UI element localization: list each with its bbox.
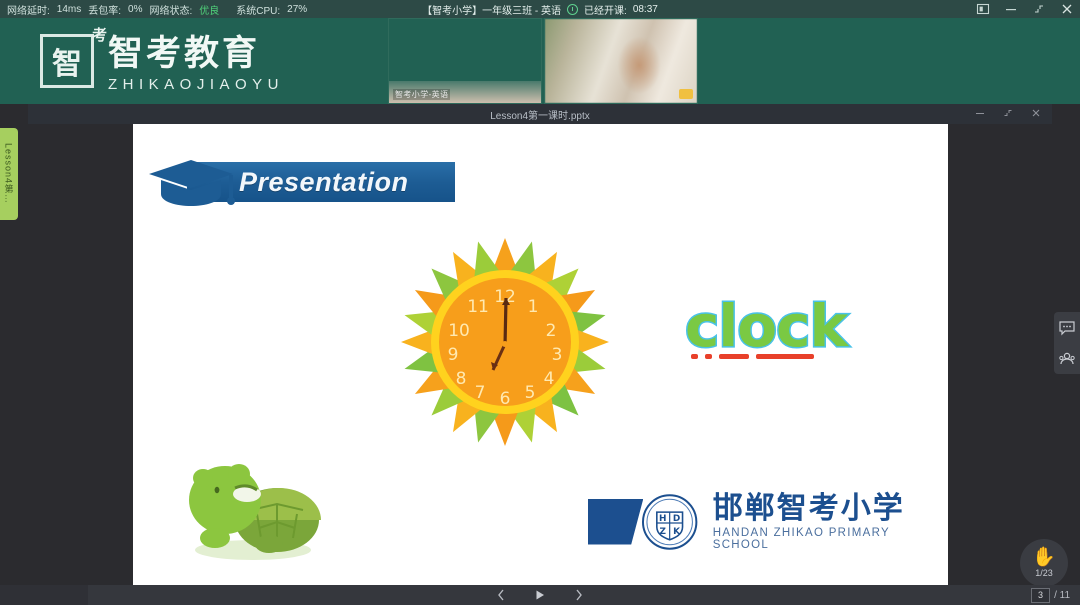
vocab-word-text: clock — [685, 292, 885, 360]
svg-text:8: 8 — [456, 369, 467, 389]
ppt-close-icon[interactable] — [1030, 107, 1044, 121]
stopwatch-icon — [567, 4, 578, 15]
svg-text:4: 4 — [544, 369, 555, 389]
bottom-toolbar: 3 / 11 — [0, 585, 1080, 605]
presentation-banner: Presentation — [143, 150, 455, 212]
video-tile-teacher[interactable]: 智考小学-英语 — [388, 18, 542, 104]
school-logo-bar — [588, 499, 643, 545]
sunflower-clock-image: 12 1 2 3 4 5 6 7 8 9 10 11 — [371, 234, 639, 454]
svg-text:K: K — [674, 526, 682, 536]
ppt-window: Lesson4第一课时.pptx Presentation — [28, 104, 1052, 587]
brand-mark-sup: 考 — [92, 24, 107, 45]
restore-icon[interactable] — [1032, 2, 1046, 16]
conference-app-window: 网络延时: 14ms 丢包率: 0% 网络状态: 优良 系统CPU: 27% 【… — [0, 0, 1080, 605]
phonics-underline-marks — [691, 354, 814, 359]
slide-canvas[interactable]: Presentation — [133, 124, 948, 587]
network-stats: 网络延时: 14ms 丢包率: 0% 网络状态: 优良 系统CPU: 27% — [0, 2, 307, 17]
elapsed-label: 已经开课: — [584, 2, 627, 17]
cpu-label: 系统CPU: — [236, 2, 280, 17]
packet-loss-value: 0% — [128, 4, 142, 15]
video-tile-teacher-label: 智考小学-英语 — [393, 89, 450, 100]
next-slide-button[interactable] — [573, 588, 585, 602]
school-name-cn: 邯郸智考小学 — [713, 492, 948, 526]
graduation-cap-icon — [143, 156, 239, 210]
brand-name-cn: 智考教育 — [108, 34, 284, 74]
svg-text:D: D — [673, 514, 680, 524]
ppt-file-title: Lesson4第一课时.pptx — [490, 107, 590, 122]
play-slideshow-button[interactable] — [533, 588, 547, 602]
brand-mark-main: 智 — [52, 39, 82, 83]
raise-hand-icon: ✋ — [1032, 548, 1056, 567]
brand-logo: 智 考 智考教育 ZHIKAOJIAOYU — [40, 34, 284, 93]
school-name-en: HANDAN ZHIKAO PRIMARY SCHOOL — [713, 527, 948, 551]
svg-text:Z: Z — [660, 526, 667, 536]
ppt-restore-icon[interactable] — [1002, 107, 1016, 121]
ppt-minimize-icon[interactable] — [974, 107, 988, 121]
cpu-value: 27% — [287, 4, 307, 15]
close-icon[interactable] — [1060, 2, 1074, 16]
lesson-side-tab-label: Lesson4第… — [3, 143, 16, 204]
brand-text: 智考教育 ZHIKAOJIAOYU — [108, 34, 284, 93]
participants-icon[interactable] — [1058, 350, 1076, 368]
video-badge-icon — [679, 89, 693, 99]
school-names: 邯郸智考小学 HANDAN ZHIKAO PRIMARY SCHOOL — [713, 492, 948, 551]
svg-text:1: 1 — [528, 297, 539, 317]
packet-loss-label: 丢包率: — [88, 2, 121, 17]
svg-text:H: H — [659, 514, 666, 524]
page-indicator: 3 / 11 — [1031, 585, 1070, 605]
school-crest-icon: HD ZK — [641, 493, 698, 551]
elapsed-value: 08:37 — [633, 4, 658, 15]
prev-slide-button[interactable] — [495, 588, 507, 602]
total-pages-label: / 11 — [1054, 590, 1070, 601]
svg-text:5: 5 — [525, 383, 536, 403]
video-tiles: 智考小学-英语 — [388, 18, 698, 104]
svg-text:2: 2 — [546, 321, 557, 341]
svg-text:10: 10 — [448, 321, 470, 341]
video-tile-student[interactable] — [544, 18, 698, 104]
status-bar: 网络延时: 14ms 丢包率: 0% 网络状态: 优良 系统CPU: 27% 【… — [0, 0, 1080, 18]
class-title: 【智考小学】一年级三班 - 英语 — [422, 2, 561, 17]
slide-nav-controls — [0, 585, 1080, 605]
right-tool-rail — [1054, 312, 1080, 374]
ppt-title-bar: Lesson4第一课时.pptx — [28, 104, 1052, 124]
turtle-illustration — [173, 446, 333, 566]
network-status-value: 优良 — [199, 2, 219, 17]
raise-hand-count: 1/23 — [1035, 568, 1053, 578]
svg-text:6: 6 — [500, 389, 511, 409]
network-latency-label: 网络延时: — [7, 2, 50, 17]
brand-mark-icon: 智 考 — [40, 34, 94, 88]
raise-hand-button[interactable]: ✋ 1/23 — [1020, 539, 1068, 587]
video-feed-student — [545, 19, 697, 103]
minimize-icon[interactable] — [1004, 2, 1018, 16]
network-latency-value: 14ms — [57, 4, 81, 15]
school-logo: HD ZK 邯郸智考小学 HANDAN ZHIKAO PRIMARY SCHOO… — [588, 492, 948, 551]
screen-share-icon[interactable] — [976, 2, 990, 16]
window-controls — [976, 0, 1074, 18]
current-page-input[interactable]: 3 — [1031, 588, 1050, 603]
vocab-word-clock: clock — [685, 292, 885, 372]
svg-text:11: 11 — [467, 297, 489, 317]
network-status-label: 网络状态: — [149, 2, 192, 17]
brand-name-en: ZHIKAOJIAOYU — [108, 76, 284, 93]
svg-text:9: 9 — [448, 345, 459, 365]
ppt-window-controls — [974, 104, 1044, 124]
lesson-side-tab[interactable]: Lesson4第… — [0, 128, 18, 220]
chat-icon[interactable] — [1058, 319, 1076, 337]
svg-text:7: 7 — [475, 383, 486, 403]
svg-text:3: 3 — [552, 345, 563, 365]
